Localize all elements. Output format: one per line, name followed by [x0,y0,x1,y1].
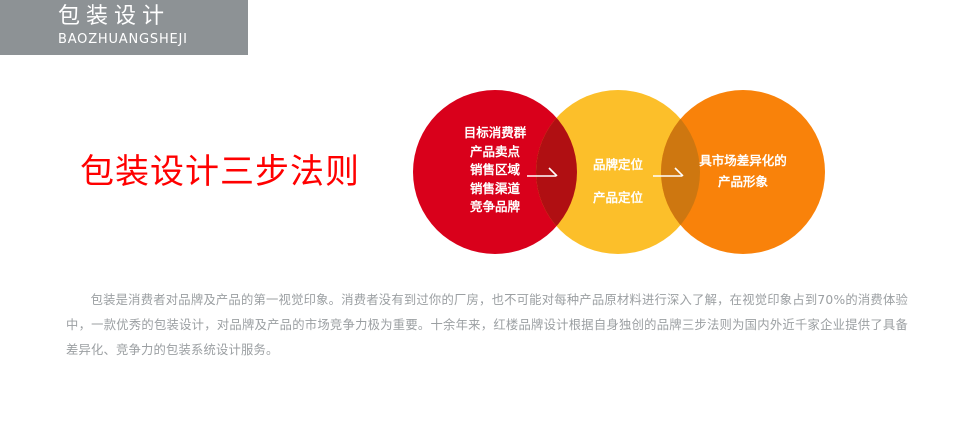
header-title-pinyin: BAOZHUANGSHEJI [58,31,248,48]
header-banner-text: 包装设计 BAOZHUANGSHEJI [58,3,248,48]
body-paragraph: 包装是消费者对品牌及产品的第一视觉印象。消费者没有到过你的厂房，也不可能对每种产… [66,288,908,363]
page-title: 包装设计三步法则 [80,150,360,194]
header-title-cn: 包装设计 [58,3,248,30]
three-step-diagram: 目标消费群 产品卖点 销售区域 销售渠道 竞争品牌 品牌定位 产品定位 具市场差… [410,90,830,255]
header-banner: 包装设计 BAOZHUANGSHEJI [0,0,248,55]
diagram-svg [410,90,830,255]
